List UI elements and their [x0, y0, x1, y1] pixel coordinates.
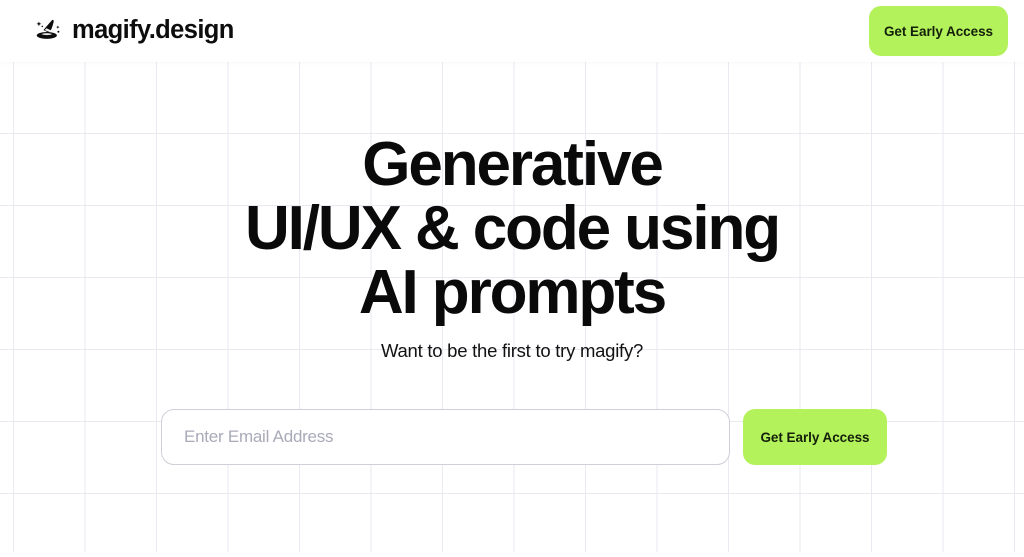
hero-section: Generative UI/UX & code using AI prompts…: [0, 62, 1024, 557]
email-input[interactable]: [161, 409, 730, 465]
wizard-hat-icon: [33, 16, 63, 46]
headline-line-1: Generative: [0, 133, 1024, 197]
early-access-signup-form: Get Early Access: [161, 409, 887, 465]
headline-line-3: AI prompts: [0, 261, 1024, 325]
brand-name: magify.design: [72, 18, 234, 44]
landing-page: magify.design Get Early Access Generativ…: [0, 0, 1024, 557]
brand-logo-link[interactable]: magify.design: [33, 0, 234, 62]
site-header: magify.design Get Early Access: [0, 0, 1024, 62]
headline-line-2: UI/UX & code using: [0, 197, 1024, 261]
hero-headline: Generative UI/UX & code using AI prompts: [0, 133, 1024, 325]
signup-get-early-access-button[interactable]: Get Early Access: [743, 409, 887, 465]
hero-subheadline: Want to be the first to try magify?: [0, 340, 1024, 362]
header-get-early-access-button[interactable]: Get Early Access: [869, 6, 1008, 56]
